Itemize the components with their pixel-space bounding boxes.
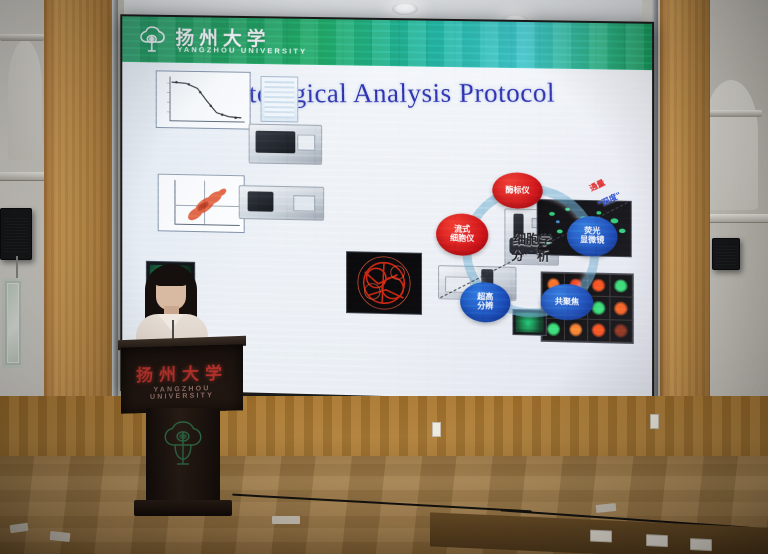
podium-front-panel: 扬州大学 YANGZHOU UNIVERSITY (121, 344, 243, 413)
thumb-confocal-red-network (346, 251, 422, 315)
cycle-node-confocal[interactable]: 共聚焦 (541, 283, 594, 320)
cycle-node-flow-cytometer[interactable]: 流式 细胞仪 (436, 213, 488, 256)
left-wall-utility-box (2, 278, 24, 368)
cycle-center-label: 细胞学 分 析 (486, 232, 579, 267)
floor-item-2 (50, 531, 71, 542)
thumb-microplate-reader-photo (249, 124, 323, 165)
stage-outlet-2[interactable] (646, 534, 668, 547)
wall-outlet-1[interactable] (432, 422, 441, 437)
ceiling-downlight-1 (392, 3, 418, 15)
floor-item-4 (596, 503, 617, 513)
stage-outlet-3[interactable] (690, 538, 712, 551)
cytological-analysis-cycle-diagram: 通量 "深度" 酶标仪 荧光 显微镜 共聚焦 超高 (436, 171, 628, 336)
thumb-dose-response-curve (156, 70, 251, 129)
cycle-node-super-resolution[interactable]: 超高 分辨 (460, 282, 510, 323)
podium: 扬州大学 YANGZHOU UNIVERSITY (118, 338, 246, 516)
thumb-data-table-panel (261, 76, 299, 122)
right-wall-speaker (712, 238, 740, 270)
slide-university-name-cn: 扬州大学 (175, 23, 270, 51)
lecture-hall-scene: 扬州大学 YANGZHOU UNIVERSITY Cytological Ana… (0, 0, 768, 554)
cycle-center-line2: 分 析 (486, 248, 579, 266)
cycle-node-flow-cytometer-label2: 细胞仪 (450, 234, 474, 243)
stage-outlet-1[interactable] (590, 530, 612, 543)
left-wall-rail (0, 34, 44, 41)
wall-outlet-2[interactable] (650, 414, 659, 429)
podium-base (134, 500, 232, 516)
cycle-node-fluorescence-microscope-label2: 显微镜 (580, 236, 604, 245)
floor-cable-1 (232, 494, 532, 513)
yangzhou-university-tree-emblem-icon (136, 23, 168, 55)
floor-item-1 (10, 523, 29, 533)
slide-header-band: 扬州大学 YANGZHOU UNIVERSITY (122, 16, 652, 70)
podium-tree-emblem-icon (162, 418, 204, 468)
cycle-node-confocal-label: 共聚焦 (555, 298, 579, 307)
cycle-node-microplate-reader-label: 酶标仪 (505, 186, 529, 195)
left-wall-recess (8, 40, 42, 160)
thumb-super-resolution-system (239, 185, 324, 221)
floor-item-3 (272, 516, 300, 524)
slide-university-name-en: YANGZHOU UNIVERSITY (177, 45, 307, 56)
presenter-hair-top (153, 266, 189, 286)
right-wall-recess (704, 80, 758, 210)
podium-university-name-en: YANGZHOU UNIVERSITY (121, 384, 243, 401)
cycle-node-microplate-reader[interactable]: 酶标仪 (492, 172, 542, 209)
podium-university-name-cn: 扬州大学 (121, 358, 243, 386)
left-wall-speaker (0, 208, 32, 260)
axis-annotation-red: 通量 (588, 177, 607, 194)
cycle-center-line1: 细胞学 (486, 232, 579, 250)
thumb-flow-cytometry-scatter (158, 174, 245, 233)
cycle-node-super-resolution-label2: 分辨 (477, 302, 493, 311)
